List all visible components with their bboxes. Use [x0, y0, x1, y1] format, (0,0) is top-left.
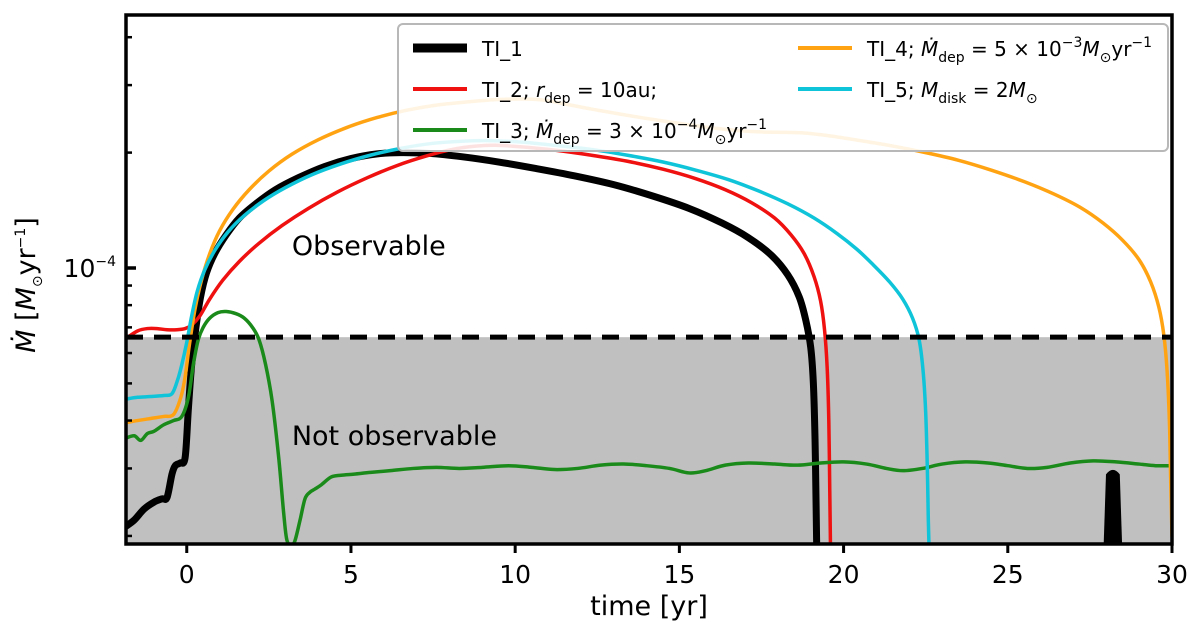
annotation-observable: Observable — [292, 231, 446, 262]
chart-canvas: 051015202530 10−4 time [yr] Ṁ [M⊙yr−1] O… — [0, 0, 1200, 635]
series-spike-ti_1 — [1104, 470, 1122, 544]
x-tick-label-30: 30 — [1156, 560, 1188, 589]
mdot-symbol: Ṁ — [10, 330, 42, 353]
x-tick-label-10: 10 — [499, 560, 531, 589]
x-tick-label-15: 15 — [663, 560, 695, 589]
x-tick-label-25: 25 — [992, 560, 1024, 589]
chart-figure: 051015202530 10−4 time [yr] Ṁ [M⊙yr−1] O… — [0, 0, 1200, 635]
legend-box: TI_1 TI_2; rdep = 10au; TI_3; Ṁdep = 3 ×… — [398, 24, 1168, 151]
x-tick-label-20: 20 — [828, 560, 860, 589]
y-tick-mantissa: 10 — [64, 254, 96, 283]
svg-text:Observable: Observable — [292, 231, 446, 262]
svg-text:time [yr]: time [yr] — [590, 591, 708, 622]
annotation-not-observable: Not observable — [292, 421, 497, 452]
x-axis-title: time [yr] — [590, 591, 708, 622]
x-tick-label-5: 5 — [343, 560, 359, 589]
legend-label-ti1: TI_1 — [481, 37, 523, 61]
x-tick-label-0: 0 — [179, 560, 195, 589]
svg-text:Not observable: Not observable — [292, 421, 497, 452]
